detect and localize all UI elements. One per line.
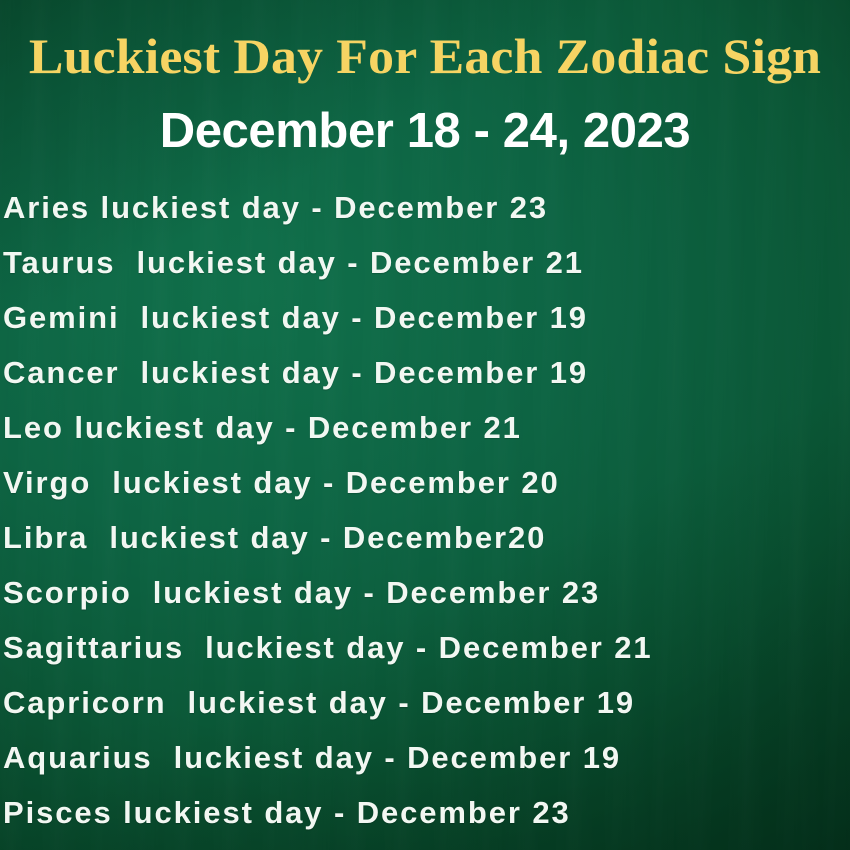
list-item: Pisces luckiest day - December 23 (0, 785, 850, 840)
zodiac-luckiest-day-poster: Luckiest Day For Each Zodiac Sign Decemb… (0, 0, 850, 850)
list-item: Taurus luckiest day - December 21 (0, 235, 850, 290)
list-item: Gemini luckiest day - December 19 (0, 290, 850, 345)
list-item: Capricorn luckiest day - December 19 (0, 675, 850, 730)
zodiac-sign-list: Aries luckiest day - December 23 Taurus … (0, 180, 850, 840)
poster-date-range: December 18 - 24, 2023 (0, 102, 850, 160)
list-item: Virgo luckiest day - December 20 (0, 455, 850, 510)
list-item: Leo luckiest day - December 21 (0, 400, 850, 455)
list-item: Libra luckiest day - December20 (0, 510, 850, 565)
list-item: Sagittarius luckiest day - December 21 (0, 620, 850, 675)
list-item: Cancer luckiest day - December 19 (0, 345, 850, 400)
poster-title: Luckiest Day For Each Zodiac Sign (0, 26, 850, 86)
list-item: Aries luckiest day - December 23 (0, 180, 850, 235)
list-item: Aquarius luckiest day - December 19 (0, 730, 850, 785)
poster-content: Luckiest Day For Each Zodiac Sign Decemb… (0, 0, 850, 850)
list-item: Scorpio luckiest day - December 23 (0, 565, 850, 620)
